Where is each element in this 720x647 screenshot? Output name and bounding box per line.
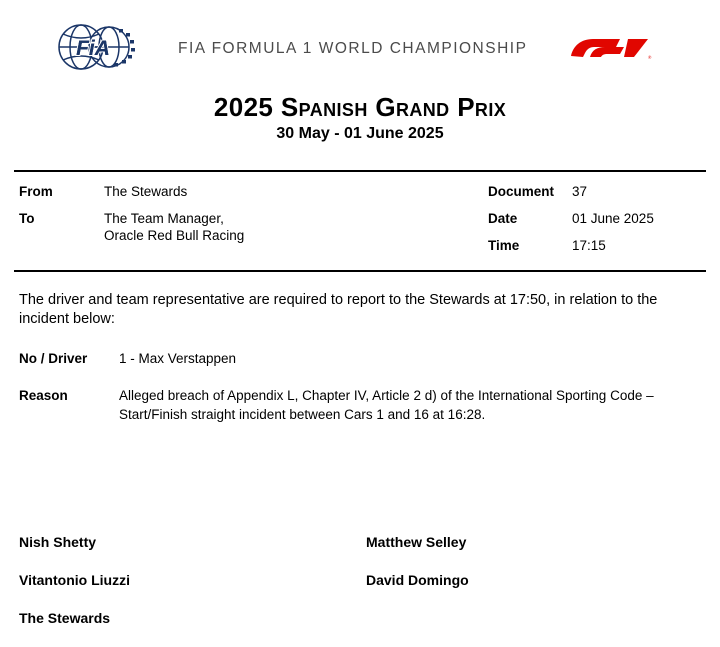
f1-logo-icon: ®	[568, 35, 652, 61]
meta-value-from: The Stewards	[104, 183, 187, 200]
meta-document-info: Document 37 Date 01 June 2025 Time 17:15	[488, 183, 708, 264]
signature-row: The Stewards	[19, 609, 709, 627]
intro-paragraph: The driver and team representative are r…	[19, 291, 707, 329]
meta-label-date: Date	[488, 210, 572, 227]
incident-value-driver: 1 - Max Verstappen	[119, 349, 236, 368]
signature-name: Matthew Selley	[366, 533, 709, 551]
meta-value-to: The Team Manager, Oracle Red Bull Racing	[104, 210, 244, 244]
incident-value-reason: Alleged breach of Appendix L, Chapter IV…	[119, 386, 684, 424]
meta-value-time: 17:15	[572, 237, 606, 254]
signature-row: Vitantonio Liuzzi David Domingo	[19, 571, 709, 589]
meta-from-to: From The Stewards To The Team Manager, O…	[19, 183, 439, 254]
event-title: 2025 Spanish Grand Prix	[0, 92, 720, 122]
document-body: The driver and team representative are r…	[19, 291, 707, 442]
meta-value-date: 01 June 2025	[572, 210, 654, 227]
incident-details: No / Driver 1 - Max Verstappen Reason Al…	[19, 349, 707, 424]
meta-label-time: Time	[488, 237, 572, 254]
document-meta: From The Stewards To The Team Manager, O…	[0, 170, 720, 270]
svg-text:®: ®	[648, 54, 652, 60]
incident-label-driver: No / Driver	[19, 349, 119, 368]
signature-block: Nish Shetty Matthew Selley Vitantonio Li…	[19, 533, 709, 647]
signature-name: Nish Shetty	[19, 533, 366, 551]
meta-value-document: 37	[572, 183, 587, 200]
meta-label-to: To	[19, 210, 104, 227]
document-header: FiA FiA FIA FORMULA 1 WORLD CHAMPIONSHIP…	[0, 0, 720, 92]
meta-row-document: Document 37	[488, 183, 708, 200]
incident-label-reason: Reason	[19, 386, 119, 405]
meta-row-from: From The Stewards	[19, 183, 439, 200]
meta-row-date: Date 01 June 2025	[488, 210, 708, 227]
signature-name-empty	[366, 609, 709, 627]
fia-logo-icon: FiA FiA	[55, 22, 137, 72]
incident-row-driver: No / Driver 1 - Max Verstappen	[19, 349, 707, 368]
meta-label-document: Document	[488, 183, 572, 200]
signature-name: Vitantonio Liuzzi	[19, 571, 366, 589]
meta-label-from: From	[19, 183, 104, 200]
divider-bottom	[14, 270, 706, 272]
svg-text:FiA: FiA	[76, 37, 110, 60]
signature-name: David Domingo	[366, 571, 709, 589]
championship-title: FIA FORMULA 1 WORLD CHAMPIONSHIP	[178, 40, 518, 58]
meta-row-to: To The Team Manager, Oracle Red Bull Rac…	[19, 210, 439, 244]
title-block: 2025 Spanish Grand Prix 30 May - 01 June…	[0, 92, 720, 145]
signature-row: Nish Shetty Matthew Selley	[19, 533, 709, 551]
event-dates: 30 May - 01 June 2025	[0, 123, 720, 145]
meta-row-time: Time 17:15	[488, 237, 708, 254]
signature-role: The Stewards	[19, 609, 366, 627]
incident-row-reason: Reason Alleged breach of Appendix L, Cha…	[19, 386, 707, 424]
